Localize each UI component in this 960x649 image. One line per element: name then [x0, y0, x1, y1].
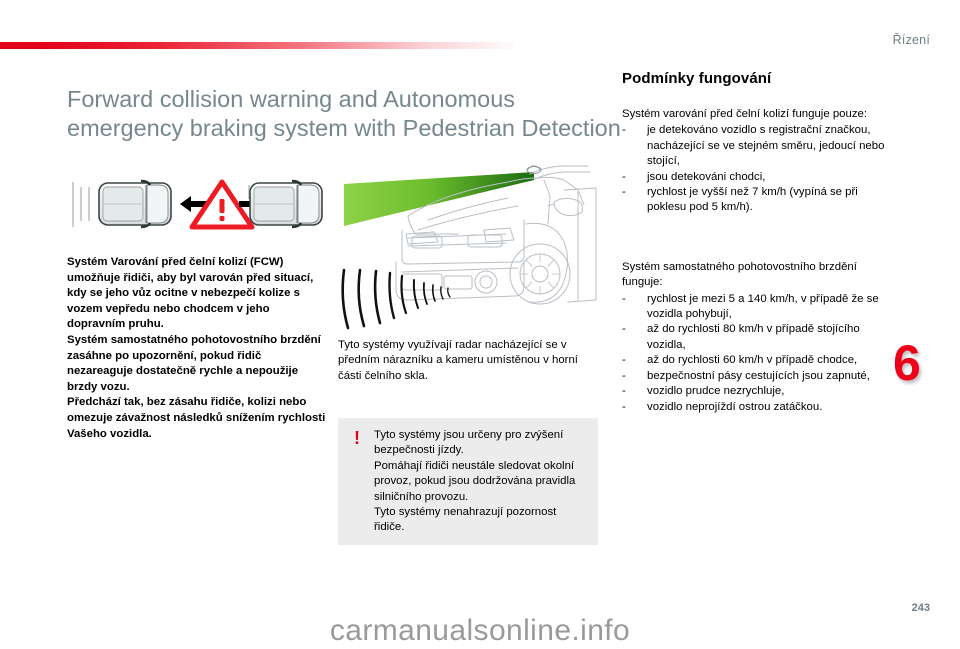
- chapter-number-tab: 6: [893, 338, 921, 388]
- radar-camera-diagram: [338, 150, 600, 330]
- right-column-heading: Podmínky fungování: [622, 70, 892, 87]
- list-item: - až do rychlosti 80 km/h v případě stoj…: [622, 322, 892, 353]
- list-dash: -: [622, 400, 626, 415]
- list-dash: -: [622, 292, 626, 307]
- fcw-conditions-list: - je detekováno vozidlo s registrační zn…: [622, 123, 892, 215]
- operating-conditions-fcw: Systém varování před čelní kolizí funguj…: [622, 107, 892, 216]
- list-dash: -: [622, 170, 626, 185]
- list-item-label: rychlost je vyšší než 7 km/h (vypíná se …: [647, 186, 858, 213]
- list-item-label: až do rychlosti 60 km/h v případě chodce…: [647, 354, 857, 366]
- list-item: - bezpečnostní pásy cestujících jsou zap…: [622, 369, 892, 384]
- fcw-intro: Systém varování před čelní kolizí funguj…: [622, 107, 892, 122]
- list-item: - vozidlo neprojíždí ostrou zatáčkou.: [622, 400, 892, 415]
- list-dash: -: [622, 322, 626, 337]
- page-title: Forward collision warning and Autonomous…: [67, 85, 627, 143]
- list-item: - jsou detekováni chodci,: [622, 170, 892, 185]
- aeb-intro: Systém samostatného pohotovostního brzdě…: [622, 260, 892, 291]
- warning-box-text: Tyto systémy jsou určeny pro zvýšení bez…: [374, 428, 588, 536]
- vehicle-left: [99, 181, 171, 227]
- list-dash: -: [622, 185, 626, 200]
- list-item-label: vozidlo prudce nezrychluje,: [647, 385, 784, 397]
- warning-box: ! Tyto systémy jsou určeny pro zvýšení b…: [338, 418, 598, 545]
- aeb-conditions-list: - rychlost je mezi 5 a 140 km/h, v přípa…: [622, 292, 892, 415]
- vehicle-right: [250, 181, 322, 227]
- operating-conditions-aeb: Systém samostatného pohotovostního brzdě…: [622, 260, 892, 415]
- list-item: - rychlost je vyšší než 7 km/h (vypíná s…: [622, 185, 892, 216]
- left-paragraph-2: Systém samostatného pohotovostního brzdě…: [67, 333, 329, 395]
- left-paragraph-1: Systém Varování před čelní kolizí (FCW) …: [67, 255, 329, 333]
- middle-body-text: Tyto systémy využívají radar nacházející…: [338, 338, 600, 384]
- list-item-label: vozidlo neprojíždí ostrou zatáčkou.: [647, 401, 822, 413]
- list-item: - je detekováno vozidlo s registrační zn…: [622, 123, 892, 169]
- warning-paragraph-1: Tyto systémy jsou určeny pro zvýšení bez…: [374, 428, 588, 459]
- left-body-text: Systém Varování před čelní kolizí (FCW) …: [67, 255, 329, 442]
- page-number: 243: [912, 602, 930, 614]
- list-dash: -: [622, 369, 626, 384]
- list-item-label: jsou detekováni chodci,: [647, 171, 765, 183]
- left-paragraph-3: Předchází tak, bez zásahu řidiče, kolizi…: [67, 395, 329, 442]
- middle-column: Tyto systémy využívají radar nacházející…: [338, 150, 600, 384]
- warning-paragraph-2: Pomáhají řidiči neustále sledovat okolní…: [374, 459, 588, 505]
- list-item-label: až do rychlosti 80 km/h v případě stojíc…: [647, 323, 860, 350]
- chapter-title: Řízení: [893, 33, 930, 47]
- list-item: - vozidlo prudce nezrychluje,: [622, 384, 892, 399]
- header-accent-rule: [0, 42, 520, 49]
- list-dash: -: [622, 123, 626, 138]
- warning-paragraph-3: Tyto systémy nenahrazují pozornost řidič…: [374, 505, 588, 536]
- list-item-label: rychlost je mezi 5 a 140 km/h, v případě…: [647, 293, 879, 320]
- list-item-label: je detekováno vozidlo s registrační znač…: [647, 124, 884, 167]
- watermark: carmanualsonline.info: [0, 614, 960, 648]
- list-item-label: bezpečnostní pásy cestujících jsou zapnu…: [647, 370, 870, 382]
- left-column: Systém Varování před čelní kolizí (FCW) …: [67, 175, 329, 442]
- list-item: - rychlost je mezi 5 a 140 km/h, v přípa…: [622, 292, 892, 323]
- list-dash: -: [622, 384, 626, 399]
- list-dash: -: [622, 353, 626, 368]
- middle-paragraph-1: Tyto systémy využívají radar nacházející…: [338, 338, 600, 384]
- right-column: Podmínky fungování Systém varování před …: [622, 70, 892, 415]
- collision-warning-diagram: [67, 175, 329, 235]
- exclamation-icon: !: [351, 429, 363, 447]
- list-item: - až do rychlosti 60 km/h v případě chod…: [622, 353, 892, 368]
